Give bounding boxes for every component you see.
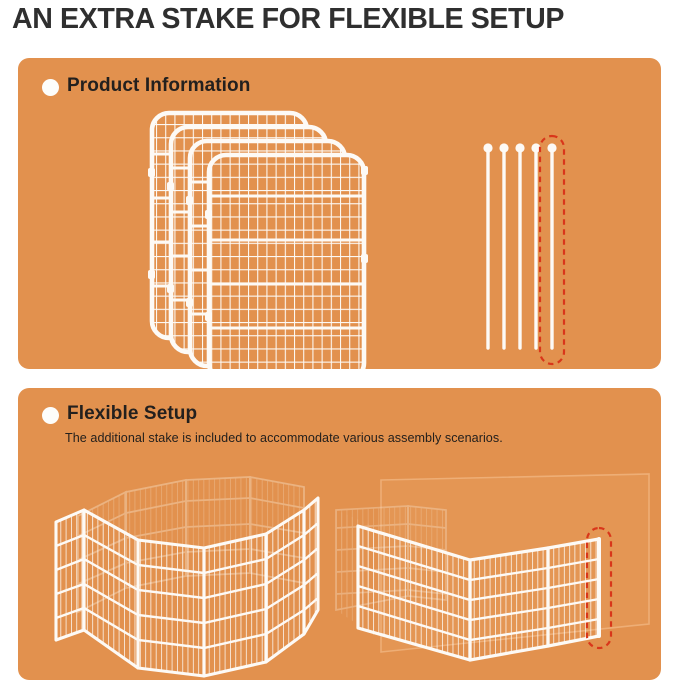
page-title: AN EXTRA STAKE FOR FLEXIBLE SETUP bbox=[12, 2, 662, 36]
product-feature-graphic: AN EXTRA STAKE FOR FLEXIBLE SETUP bbox=[0, 0, 679, 690]
stake-2 bbox=[499, 143, 508, 348]
wall-mounted-panels-scene bbox=[336, 474, 649, 660]
stake-3 bbox=[515, 143, 524, 348]
stake-1 bbox=[483, 143, 492, 348]
circle-bullet-icon bbox=[42, 407, 59, 424]
octagonal-playpen bbox=[56, 477, 318, 676]
product-information-illustration bbox=[18, 58, 661, 369]
stake-5-highlighted bbox=[547, 143, 556, 348]
card-subtitle: The additional stake is included to acco… bbox=[65, 431, 503, 445]
card-flexible-setup: fxw Flexible Setup The additional stake … bbox=[18, 388, 661, 680]
wire-panel-1 bbox=[205, 155, 368, 369]
card-product-information: Product Information bbox=[18, 58, 661, 369]
circle-bullet-icon bbox=[42, 79, 59, 96]
card-title: Product Information bbox=[67, 75, 250, 97]
ground-stakes-group bbox=[483, 136, 564, 364]
card-title: Flexible Setup bbox=[67, 403, 197, 425]
